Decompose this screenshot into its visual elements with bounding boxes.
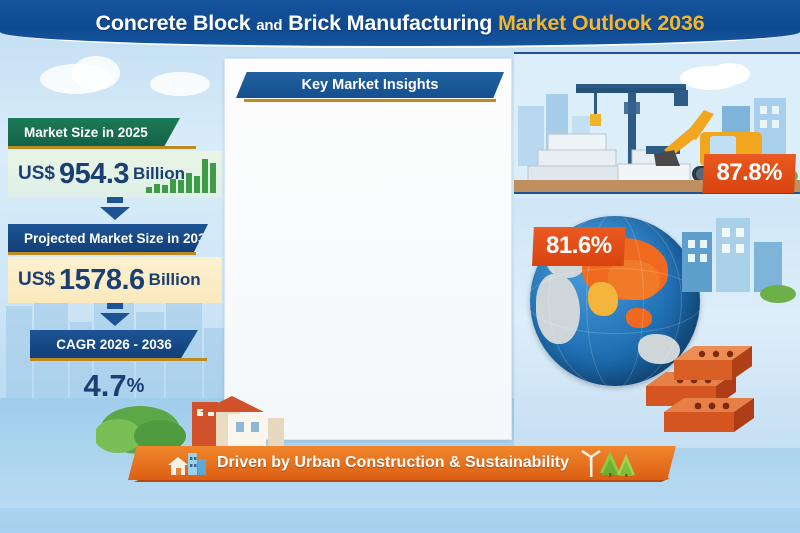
key-insights-heading: Key Market Insights [236, 72, 504, 98]
projected-size-value: 1578.6 [59, 264, 145, 297]
right-illustration-panel: 87.8% 81.6% [514, 52, 800, 448]
projected-size-unit: Billion [149, 270, 201, 290]
market-size-value-card: US$ 954.3 Billion [8, 151, 222, 197]
cagr-label: CAGR 2026 - 2036 [30, 330, 198, 358]
growth-bars-icon [146, 153, 216, 193]
label-underline [8, 146, 196, 149]
arrow-down-icon-2 [8, 303, 222, 326]
brick-pile-icon [624, 326, 784, 434]
heading-underline [244, 99, 496, 102]
key-insights-heading-wrap: Key Market Insights [236, 72, 504, 102]
projected-size-value-card: US$ 1578.6 Billion [8, 257, 222, 303]
label-underline [8, 252, 196, 255]
globe-gridline [530, 268, 700, 334]
background-city-icon [678, 208, 798, 304]
projected-size-block: Projected Market Size in 2036 US$ 1578.6… [8, 224, 222, 303]
windmill-trees-icon [578, 449, 636, 477]
market-size-block: Market Size in 2025 US$ 954.3 Billion [8, 118, 222, 197]
market-size-currency: US$ [18, 163, 55, 185]
cloud-decoration [72, 56, 120, 90]
title-part-1: Concrete Block [96, 11, 251, 35]
left-stats-column: Market Size in 2025 US$ 954.3 Billion Pr… [8, 118, 222, 409]
label-underline [30, 358, 207, 361]
bottom-banner: Driven by Urban Construction & Sustainab… [128, 446, 676, 480]
asia-pacific-badge: 87.8% [702, 154, 796, 193]
bottom-banner-text: Driven by Urban Construction & Sustainab… [217, 454, 569, 472]
title-highlight: Market Outlook 2036 [498, 11, 705, 35]
page-title: Concrete Block and Brick Manufacturing M… [96, 11, 705, 36]
infographic-root: Concrete Block and Brick Manufacturing M… [0, 0, 800, 533]
projected-size-currency: US$ [18, 269, 55, 291]
market-size-label: Market Size in 2025 [8, 118, 180, 146]
house-city-icon [168, 451, 208, 475]
title-conjunction: and [256, 17, 282, 34]
market-size-value: 954.3 [59, 158, 129, 191]
cloud-decoration [150, 72, 210, 96]
town-illustration [96, 378, 286, 456]
header-banner: Concrete Block and Brick Manufacturing M… [0, 0, 800, 48]
title-part-2: Brick Manufacturing [288, 11, 492, 35]
projected-size-label: Projected Market Size in 2036 [8, 224, 208, 252]
arrow-down-icon-1 [8, 197, 222, 220]
brick-segment-badge: 81.6% [532, 227, 626, 266]
